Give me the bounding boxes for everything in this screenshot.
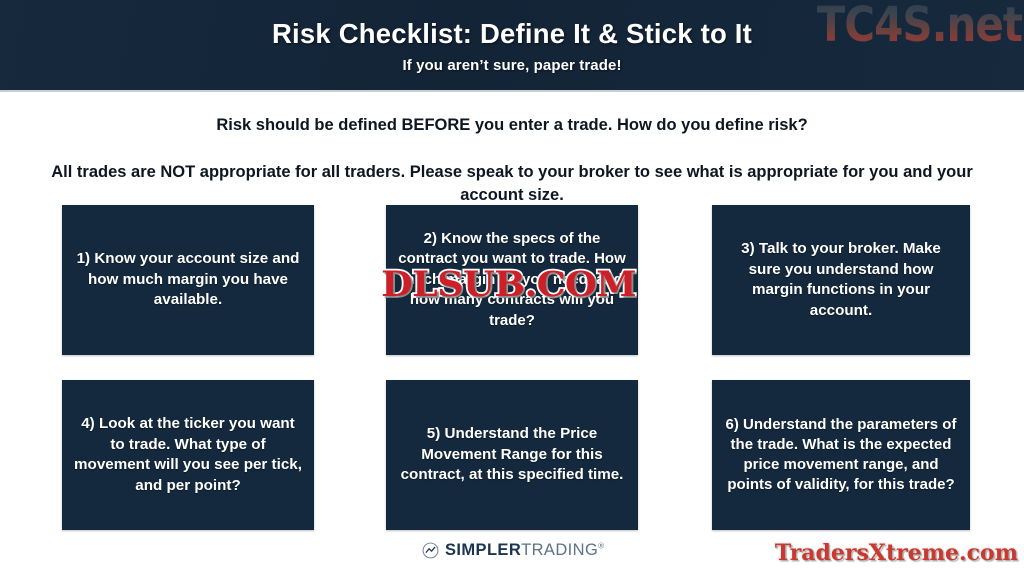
chart-circle-icon	[422, 542, 439, 559]
logo-trading-text: TRADING	[521, 541, 598, 559]
checklist-card-1-text: 1) Know your account size and how much m…	[74, 249, 302, 311]
checklist-card-4-text: 4) Look at the ticker you want to trade.…	[74, 414, 302, 496]
page-subtitle: If you aren’t sure, paper trade!	[0, 57, 1024, 74]
checklist-card-3: 3) Talk to your broker. Make sure you un…	[712, 205, 970, 355]
intro-question: Risk should be defined BEFORE you enter …	[0, 116, 1024, 135]
checklist-card-5: 5) Understand the Price Movement Range f…	[386, 380, 638, 530]
checklist-card-5-text: 5) Understand the Price Movement Range f…	[398, 424, 626, 486]
checklist-card-6: 6) Understand the parameters of the trad…	[712, 380, 970, 530]
tc4s-watermark: TC4S.net	[817, 0, 1022, 52]
header-band: Risk Checklist: Define It & Stick to It …	[0, 0, 1024, 90]
checklist-card-6-text: 6) Understand the parameters of the trad…	[724, 415, 958, 495]
simpler-trading-logo: SIMPLERTRADING®	[422, 542, 605, 559]
checklist-card-1: 1) Know your account size and how much m…	[62, 205, 314, 355]
slide-root: Risk Checklist: Define It & Stick to It …	[0, 0, 1024, 576]
intro-disclaimer: All trades are NOT appropriate for all t…	[28, 161, 996, 207]
logo-registered-mark: ®	[598, 542, 604, 551]
logo-wordmark: SIMPLERTRADING®	[445, 542, 605, 559]
tradersxtreme-watermark: TradersXtreme.com	[775, 540, 1018, 566]
logo-simpler-text: SIMPLER	[445, 541, 521, 559]
header-divider	[0, 90, 1024, 92]
checklist-card-2-text: 2) Know the specs of the contract you wa…	[398, 229, 626, 332]
checklist-card-4: 4) Look at the ticker you want to trade.…	[62, 380, 314, 530]
checklist-card-2: 2) Know the specs of the contract you wa…	[386, 205, 638, 355]
checklist-card-3-text: 3) Talk to your broker. Make sure you un…	[724, 239, 958, 321]
